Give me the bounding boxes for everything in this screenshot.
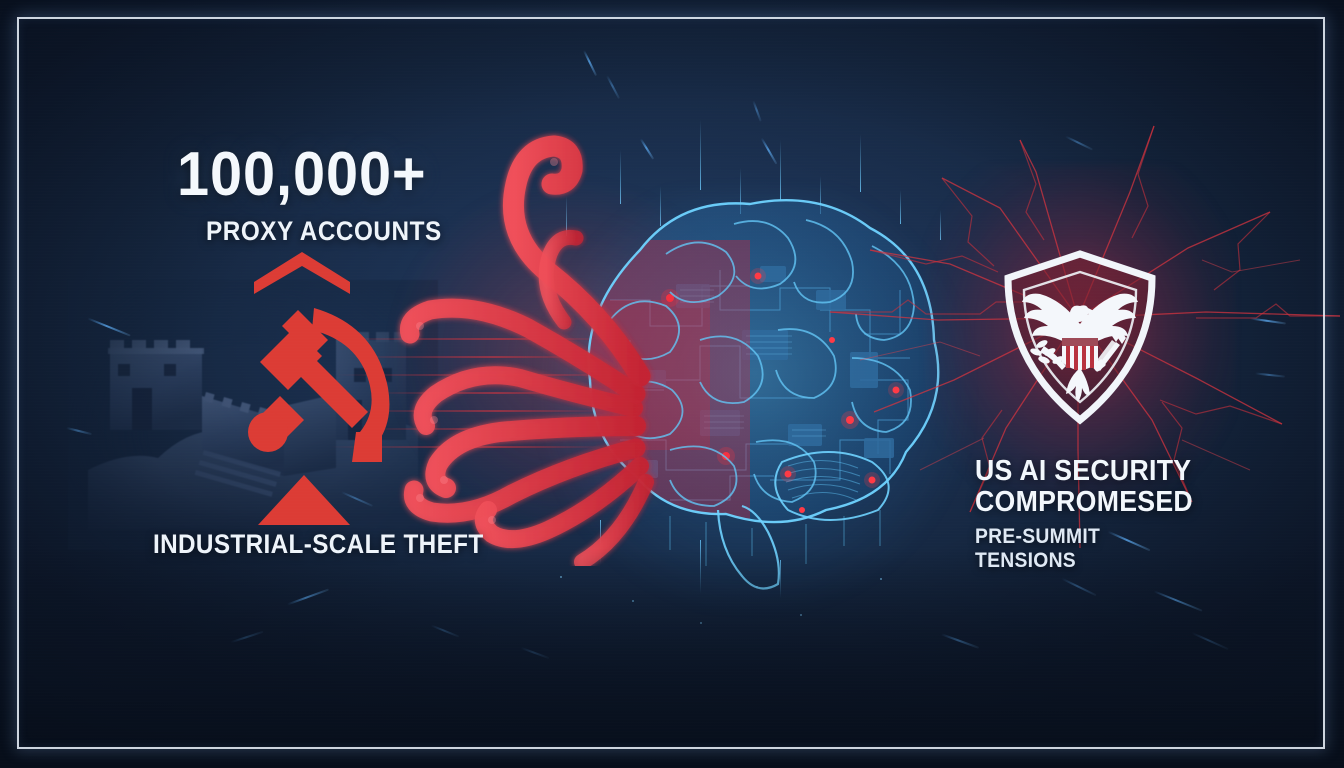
security-line-1: US AI SECURITY: [975, 456, 1196, 487]
summit-caption: PRE-SUMMIT TENSIONS: [975, 525, 1196, 573]
security-line-2: COMPROMESED: [975, 487, 1196, 518]
background-grain: [0, 0, 1344, 768]
theft-caption: INDUSTRIAL-SCALE THEFT: [153, 529, 484, 560]
stat-subhead: PROXY ACCOUNTS: [206, 216, 442, 247]
stat-headline: 100,000+: [177, 146, 427, 205]
right-text-block: US AI SECURITY COMPROMESED PRE-SUMMIT TE…: [975, 456, 1215, 573]
infographic-canvas: 100,000+ PROXY ACCOUNTS INDUSTRIAL-SCALE…: [0, 0, 1344, 768]
